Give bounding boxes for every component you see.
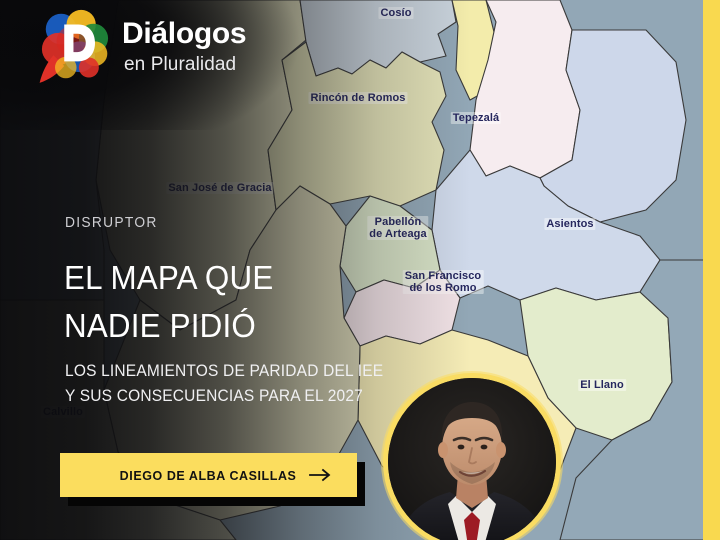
author-portrait-avatar: [388, 378, 556, 540]
right-accent-strip: [703, 0, 720, 540]
map-label-tepezala: Tepezalá: [451, 112, 501, 124]
brand-title: Diálogos: [122, 19, 246, 49]
map-label-rincon-de-romos: Rincón de Romos: [308, 92, 407, 104]
map-label-san-jose-de-gracia: San José de Gracia: [166, 182, 273, 194]
speech-bubble-logo-icon: [36, 6, 114, 86]
map-label-el-llano: El Llano: [578, 379, 626, 391]
author-cta-button[interactable]: DIEGO DE ALBA CASILLAS: [60, 453, 357, 497]
article-headline: EL MAPA QUE NADIE PIDIÓ: [64, 254, 378, 350]
arrow-right-icon: [309, 468, 331, 482]
map-label-pabellon-de-arteaga: Pabellón de Arteaga: [367, 216, 428, 240]
map-label-cosio: Cosío: [378, 7, 413, 19]
cta-container: DIEGO DE ALBA CASILLAS: [60, 453, 357, 497]
map-label-san-francisco-de-los-romo: San Francisco de los Romo: [403, 270, 484, 294]
map-label-asientos: Asientos: [544, 218, 595, 230]
poster-canvas: Cosío Rincón de Romos Tepezalá San José …: [0, 0, 720, 540]
cta-label: DIEGO DE ALBA CASILLAS: [120, 468, 297, 483]
brand-logo[interactable]: Diálogos en Pluralidad: [36, 6, 246, 86]
author-photo: [388, 378, 556, 540]
brand-subtitle: en Pluralidad: [124, 55, 246, 74]
article-deck: LOS LINEAMIENTOS DE PARIDAD DEL IEE Y SU…: [65, 359, 385, 409]
article-kicker: DISRUPTOR: [65, 214, 158, 231]
